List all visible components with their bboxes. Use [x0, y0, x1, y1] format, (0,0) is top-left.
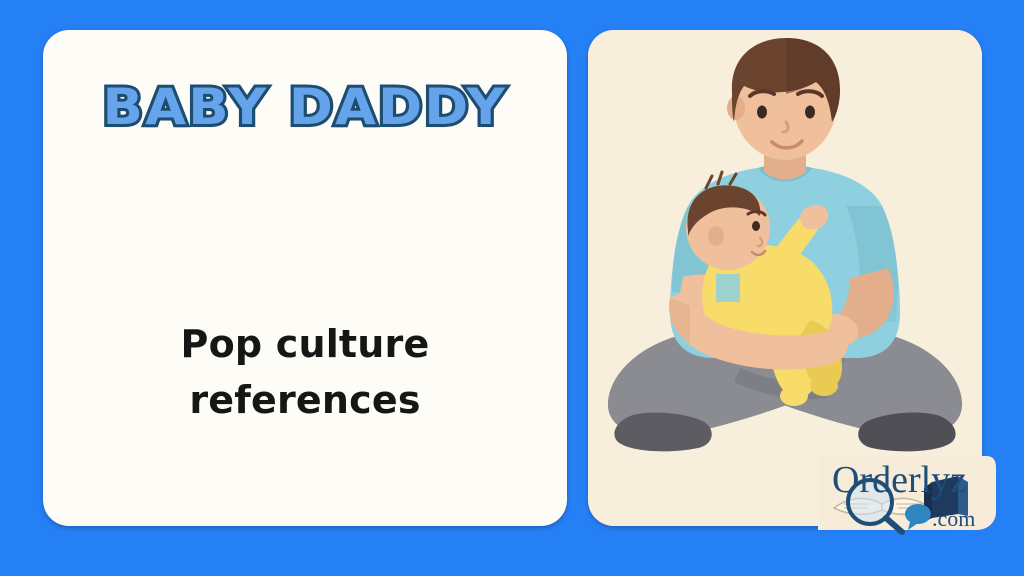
baby-eye	[752, 221, 760, 231]
eye-right	[805, 106, 815, 119]
page-title: BABY DADDY	[103, 78, 507, 136]
headline-line-1: Pop culture	[43, 316, 567, 372]
logo-domain-suffix: .com	[932, 506, 975, 531]
orderlyz-logo[interactable]: Orderlyz .com	[812, 452, 998, 536]
baby-ear	[708, 226, 724, 246]
headline-block: Pop culture references	[43, 316, 567, 428]
slide-canvas: BABY DADDY Pop culture references	[0, 0, 1024, 576]
title-block: BABY DADDY	[43, 78, 567, 136]
eye-left	[757, 106, 767, 119]
baby-foot-far	[810, 376, 838, 396]
logo-wordmark: Orderlyz	[832, 459, 967, 501]
headline-line-2: references	[43, 372, 567, 428]
baby-onesie-patch	[716, 274, 740, 302]
baby-foot-near	[780, 386, 808, 406]
left-content-card: BABY DADDY Pop culture references	[43, 30, 567, 526]
